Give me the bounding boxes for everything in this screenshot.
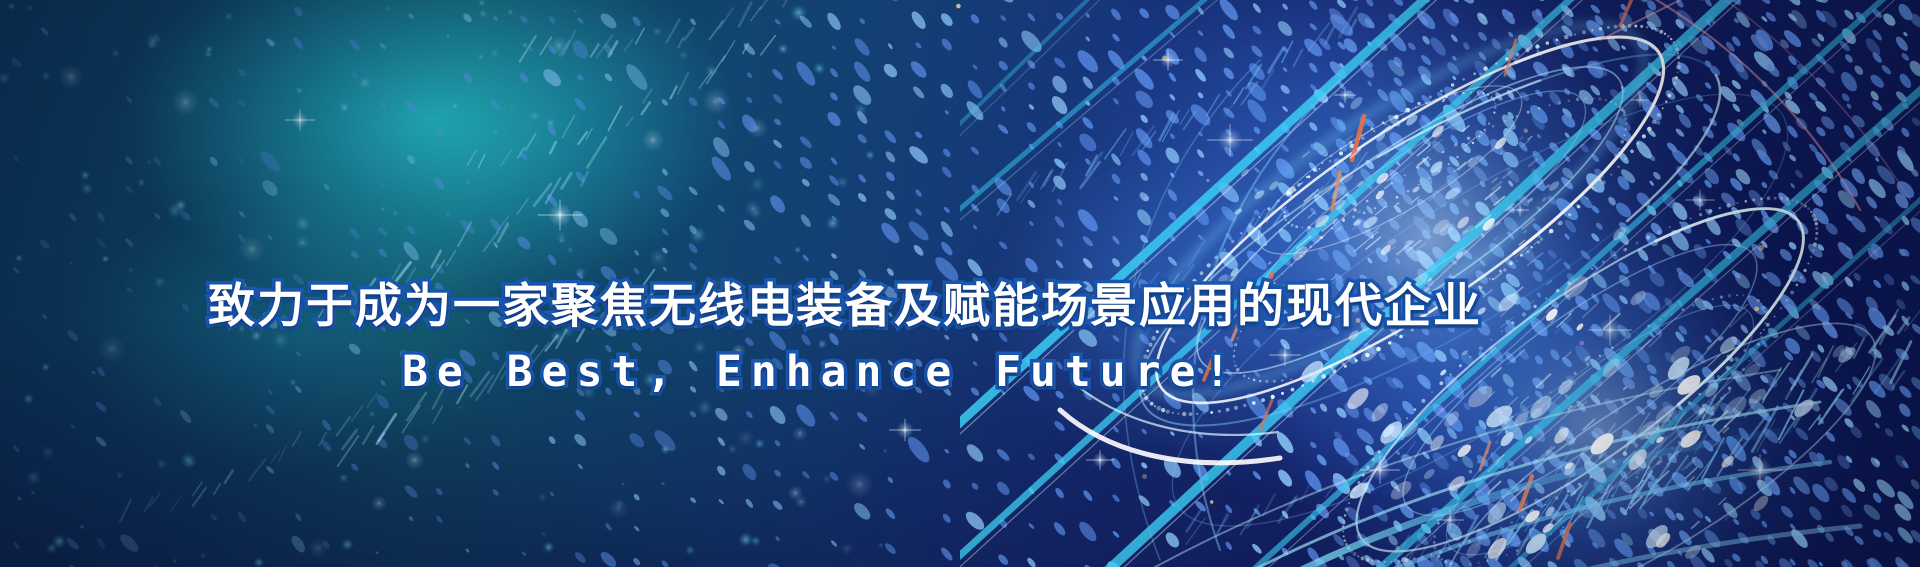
hero-banner: 致力于成为一家聚焦无线电装备及赋能场景应用的现代企业 Be Best, Enha… xyxy=(0,0,1920,567)
headline-english-slogan: Be Best, Enhance Future! xyxy=(0,336,1920,400)
headline-chinese: 致力于成为一家聚焦无线电装备及赋能场景应用的现代企业 xyxy=(0,278,1920,336)
banner-copy: 致力于成为一家聚焦无线电装备及赋能场景应用的现代企业 Be Best, Enha… xyxy=(0,278,1920,400)
